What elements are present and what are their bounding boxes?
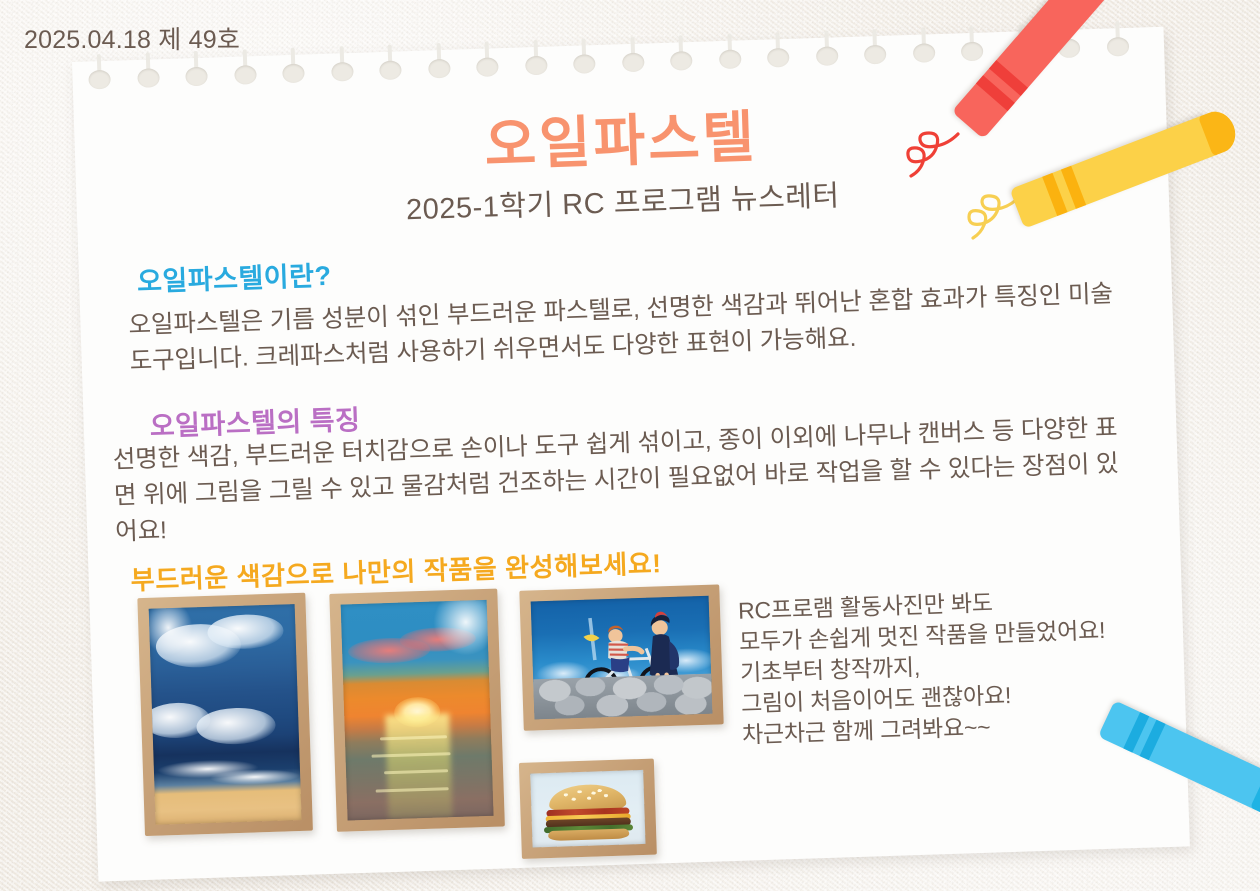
section-heading-what-is: 오일파스텔이란? <box>136 254 332 299</box>
notepad-sheet-wrapper: 오일파스텔 2025-1학기 RC 프로그램 뉴스레터 오일파스텔이란? 오일파… <box>0 0 1260 891</box>
bicycle-painting <box>519 584 723 730</box>
issue-date-line: 2025.04.18 제 49호 <box>24 20 240 56</box>
sunset-seascape-canvas <box>341 600 494 821</box>
hamburger-painting <box>519 759 657 859</box>
yellow-crayon-band <box>1061 166 1086 209</box>
sun-reflection <box>385 713 453 819</box>
beach-seascape-painting <box>137 593 313 836</box>
newsletter-content: 오일파스텔 2025-1학기 RC 프로그램 뉴스레터 오일파스텔이란? 오일파… <box>72 27 1190 882</box>
cloud-shape <box>207 613 284 650</box>
side-note-block: RC프로램 활동사진만 봐도 모두가 손쉽게 멋진 작품을 만들었어요! 기초부… <box>738 584 1109 751</box>
stone-wall-shape <box>533 674 712 720</box>
notepad-sheet: 오일파스텔 2025-1학기 RC 프로그램 뉴스레터 오일파스텔이란? 오일파… <box>72 27 1190 882</box>
beach-seascape-canvas <box>149 604 302 825</box>
pink-cloud-shape <box>400 626 477 652</box>
bun-bottom-shape <box>548 829 630 841</box>
hamburger-painting-canvas <box>530 770 645 848</box>
sunset-seascape-painting <box>329 589 505 832</box>
bicycle-painting-canvas <box>531 596 713 720</box>
